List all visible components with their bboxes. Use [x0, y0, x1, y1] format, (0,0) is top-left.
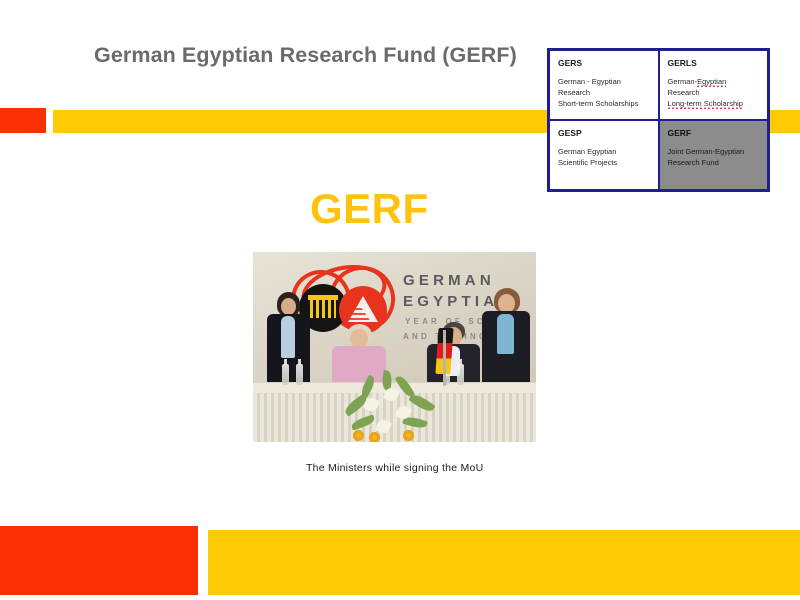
- matrix-cell-gers[interactable]: GERS German - Egyptian Research Short-te…: [550, 51, 658, 119]
- spellcheck-underlined-word: Egyptian: [697, 77, 726, 87]
- person-standing-right: [481, 288, 531, 388]
- signing-ceremony-photo: GERMAN EGYPTIAN YEAR OF SCIENCE AND TECH…: [253, 252, 536, 442]
- matrix-desc-line-2: Short-term Scholarships: [558, 99, 638, 108]
- water-bottle: [457, 364, 464, 385]
- sunflower: [369, 432, 380, 442]
- gerf-heading: GERF: [310, 188, 429, 230]
- matrix-cell-code: GERF: [668, 129, 761, 138]
- slide-canvas: German Egyptian Research Fund (GERF) GER…: [0, 0, 800, 600]
- bottom-yellow-accent-bar: [208, 530, 800, 595]
- water-bottle: [296, 364, 303, 385]
- matrix-cell-code: GESP: [558, 129, 651, 138]
- flower-arrangement: [335, 374, 447, 442]
- water-bottle: [282, 364, 289, 385]
- matrix-desc-text: German-: [668, 77, 698, 86]
- bottom-red-accent-bar: [0, 526, 198, 595]
- matrix-cell-description: German-Egyptian Research Long-term Schol…: [668, 77, 761, 109]
- sunflower: [353, 430, 364, 441]
- shirt: [497, 314, 514, 354]
- matrix-cell-description: German - Egyptian Research Short-term Sc…: [558, 77, 651, 109]
- leaf: [359, 375, 377, 399]
- spellcheck-underlined-word: Long-term: [668, 99, 702, 109]
- matrix-cell-description: Joint German-Egyptian Research Fund: [668, 147, 761, 168]
- matrix-cell-code: GERLS: [668, 59, 761, 68]
- brandenburg-gate-columns-icon: [310, 300, 336, 318]
- matrix-cell-gerls[interactable]: GERLS German-Egyptian Research Long-term…: [660, 51, 768, 119]
- matrix-cell-gerf[interactable]: GERF Joint German-Egyptian Research Fund: [660, 121, 768, 189]
- matrix-cell-gesp[interactable]: GESP German Egyptian Scientific Projects: [550, 121, 658, 189]
- top-red-accent-bar: [0, 108, 46, 133]
- matrix-cell-code: GERS: [558, 59, 651, 68]
- photo-caption: The Ministers while signing the MoU: [306, 462, 483, 474]
- face: [281, 298, 296, 315]
- programme-matrix: GERS German - Egyptian Research Short-te…: [547, 48, 770, 192]
- matrix-desc-text: Research: [668, 88, 700, 97]
- page-title: German Egyptian Research Fund (GERF): [94, 43, 517, 68]
- matrix-desc-line-2: Research Fund: [668, 158, 719, 167]
- shirt: [281, 316, 295, 358]
- matrix-cell-description: German Egyptian Scientific Projects: [558, 147, 651, 168]
- matrix-desc-line-1: German Egyptian: [558, 147, 616, 156]
- leaf: [408, 392, 435, 415]
- matrix-desc-line-1: German - Egyptian Research: [558, 77, 621, 97]
- matrix-desc-line-1: Joint German-Egyptian: [668, 147, 745, 156]
- backdrop-line-german: GERMAN: [403, 272, 495, 289]
- spellcheck-underlined-word: Scholarship: [704, 99, 743, 109]
- sunflower: [403, 430, 414, 441]
- leaf: [350, 415, 376, 431]
- matrix-desc-line-2: Scientific Projects: [558, 158, 617, 167]
